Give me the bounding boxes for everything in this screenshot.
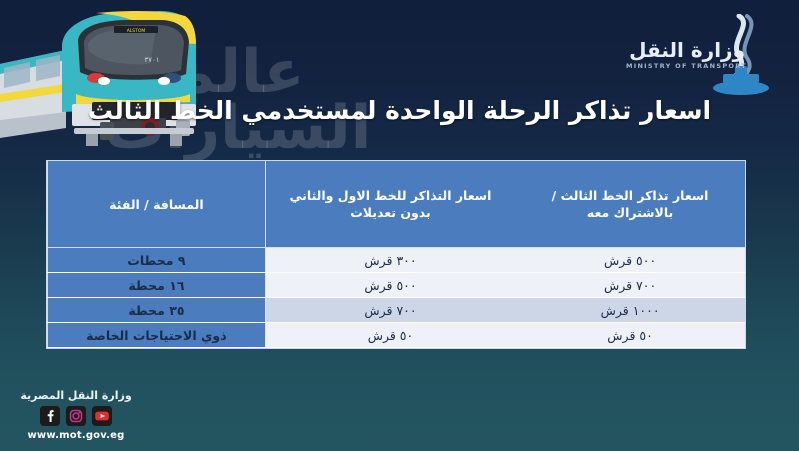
metro-train-illustration: ALSTOM ٣٧٠١ — [0, 2, 280, 157]
footer-ministry-name: وزارة النقل المصرية — [10, 389, 142, 402]
cell-category: ١٦ محطة — [48, 273, 266, 298]
ministry-logo: وزارة النقل MINISTRY OF TRANSPORT — [603, 14, 781, 100]
table-row: ٥٠ قرش ٥٠ قرش ذوي الاحتياجات الخاصة — [48, 323, 746, 348]
fares-table: اسعار تذاكر الخط الثالث / بالاشتراك معه … — [47, 161, 745, 348]
column-header-category: المسافة / الفئة — [48, 161, 266, 248]
table-row: ٧٠٠ قرش ٥٠٠ قرش ١٦ محطة — [48, 273, 746, 298]
svg-text:ALSTOM: ALSTOM — [127, 28, 146, 34]
footer-website-url[interactable]: www.mot.gov.eg — [10, 430, 142, 441]
logo-arabic-text: وزارة النقل — [629, 38, 745, 62]
cell-third-line-price: ٧٠٠ قرش — [515, 273, 745, 298]
table-header: اسعار تذاكر الخط الثالث / بالاشتراك معه … — [48, 161, 746, 248]
cell-third-line-price: ٥٠٠ قرش — [515, 248, 745, 273]
facebook-icon[interactable] — [40, 406, 60, 426]
column-header-third-line: اسعار تذاكر الخط الثالث / بالاشتراك معه — [515, 161, 745, 248]
cell-lines-one-two-price: ٥٠٠ قرش — [265, 273, 515, 298]
page-title: اسعار تذاكر الرحلة الواحدة لمستخدمي الخط… — [0, 96, 799, 125]
table-row: ٥٠٠ قرش ٣٠٠ قرش ٩ محطات — [48, 248, 746, 273]
cell-third-line-price: ١٠٠٠ قرش — [515, 298, 745, 323]
cell-lines-one-two-price: ٥٠ قرش — [265, 323, 515, 348]
table-row: ١٠٠٠ قرش ٧٠٠ قرش ٣٥ محطة — [48, 298, 746, 323]
table-header-row: اسعار تذاكر الخط الثالث / بالاشتراك معه … — [48, 161, 746, 248]
social-links — [10, 406, 142, 426]
cell-lines-one-two-price: ٣٠٠ قرش — [265, 248, 515, 273]
youtube-icon[interactable] — [92, 406, 112, 426]
table-body: ٥٠٠ قرش ٣٠٠ قرش ٩ محطات ٧٠٠ قرش ٥٠٠ قرش … — [48, 248, 746, 348]
footer: وزارة النقل المصرية — [10, 389, 142, 441]
cell-category: ذوي الاحتياجات الخاصة — [48, 323, 266, 348]
fares-table-container: اسعار تذاكر الخط الثالث / بالاشتراك معه … — [46, 160, 746, 349]
instagram-icon[interactable] — [66, 406, 86, 426]
cell-third-line-price: ٥٠ قرش — [515, 323, 745, 348]
logo-english-text: MINISTRY OF TRANSPORT — [626, 62, 747, 70]
cell-category: ٩ محطات — [48, 248, 266, 273]
cell-category: ٣٥ محطة — [48, 298, 266, 323]
column-header-lines-one-two: اسعار التذاكر للخط الاول والثاني بدون تع… — [265, 161, 515, 248]
svg-text:٣٧٠١: ٣٧٠١ — [144, 56, 159, 64]
cell-lines-one-two-price: ٧٠٠ قرش — [265, 298, 515, 323]
slide-canvas: عالم السيارات ALSTOM — [0, 0, 799, 451]
